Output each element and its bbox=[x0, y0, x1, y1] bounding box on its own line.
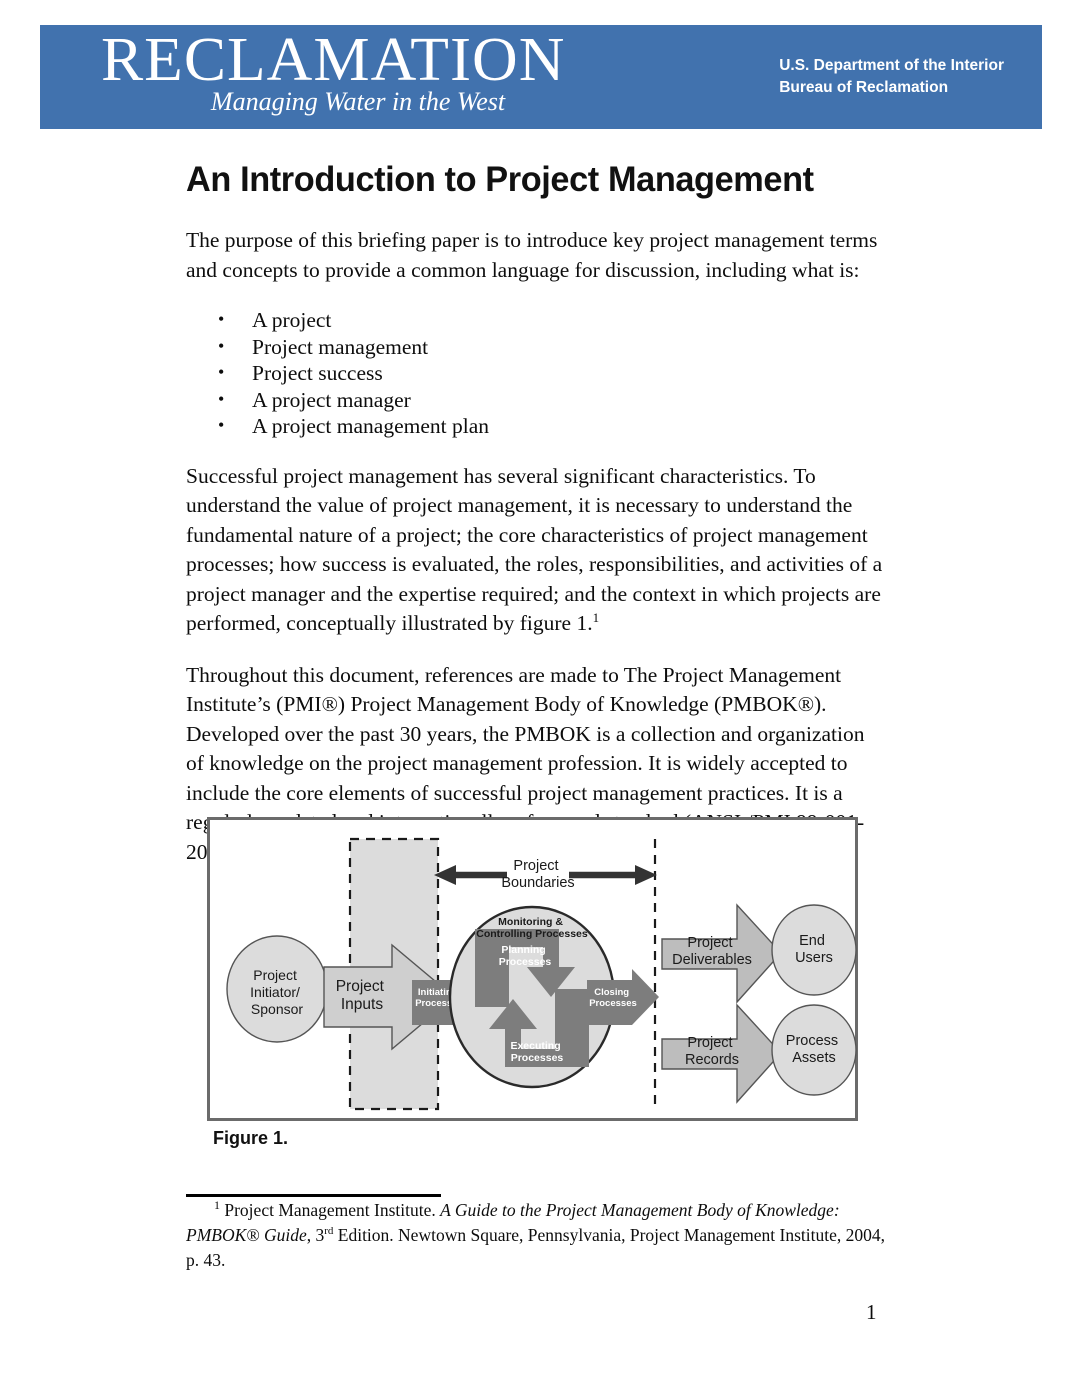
label-planning-processes: Planning Processes bbox=[499, 944, 552, 968]
page-number: 1 bbox=[866, 1300, 877, 1325]
boundary-arrow-left-icon bbox=[434, 865, 507, 885]
label-executing-processes: Executing Processes bbox=[510, 1040, 563, 1064]
boundary-arrow-right-icon bbox=[569, 865, 657, 885]
reclamation-header-banner: RECLAMATION Managing Water in the West U… bbox=[40, 25, 1042, 129]
label-end-users: End Users bbox=[795, 933, 833, 966]
figure-caption: Figure 1. bbox=[213, 1128, 288, 1149]
paragraph-characteristics: Successful project management has severa… bbox=[186, 462, 886, 639]
brand-lockup: RECLAMATION Managing Water in the West bbox=[68, 27, 588, 117]
footnote-text-part-2: , 3 bbox=[307, 1225, 325, 1245]
agency-department-line: U.S. Department of the Interior bbox=[779, 55, 1004, 77]
label-process-assets: Process Assets bbox=[786, 1033, 842, 1066]
project-context-diagram: .lbl { font-family: "Liberation Sans","D… bbox=[207, 817, 858, 1121]
figure-1: .lbl { font-family: "Liberation Sans","D… bbox=[207, 817, 858, 1121]
footnote-text-part-1: Project Management Institute. bbox=[224, 1200, 440, 1220]
agency-identifier: U.S. Department of the Interior Bureau o… bbox=[779, 55, 1004, 99]
paragraph-characteristics-text: Successful project management has severa… bbox=[186, 464, 882, 636]
list-item: A project manager bbox=[186, 387, 886, 414]
document-body: An Introduction to Project Management Th… bbox=[186, 160, 886, 889]
list-item: Project success bbox=[186, 360, 886, 387]
footnote-separator-rule bbox=[186, 1194, 441, 1197]
list-item: A project bbox=[186, 307, 886, 334]
intro-bullet-list: A project Project management Project suc… bbox=[186, 307, 886, 440]
footnote-1: 1 Project Management Institute. A Guide … bbox=[186, 1198, 886, 1273]
label-project-inputs: Project Inputs bbox=[336, 978, 389, 1013]
list-item: A project management plan bbox=[186, 413, 886, 440]
label-project-records: Project Records bbox=[685, 1035, 739, 1068]
agency-bureau-line: Bureau of Reclamation bbox=[779, 77, 1004, 99]
page-title: An Introduction to Project Management bbox=[186, 160, 872, 200]
list-item: Project management bbox=[186, 334, 886, 361]
reclamation-wordmark: RECLAMATION bbox=[68, 27, 598, 93]
footnote-edition-ordinal: rd bbox=[324, 1225, 333, 1237]
footnote-reference: 1 bbox=[593, 610, 600, 625]
label-project-initiator-sponsor: Project Initiator/ Sponsor bbox=[250, 967, 304, 1017]
label-project-boundaries: Project Boundaries bbox=[501, 858, 574, 891]
label-closing-processes: Closing Processes bbox=[589, 987, 637, 1009]
footnote-marker: 1 bbox=[186, 1198, 220, 1212]
intro-paragraph: The purpose of this briefing paper is to… bbox=[186, 226, 886, 285]
